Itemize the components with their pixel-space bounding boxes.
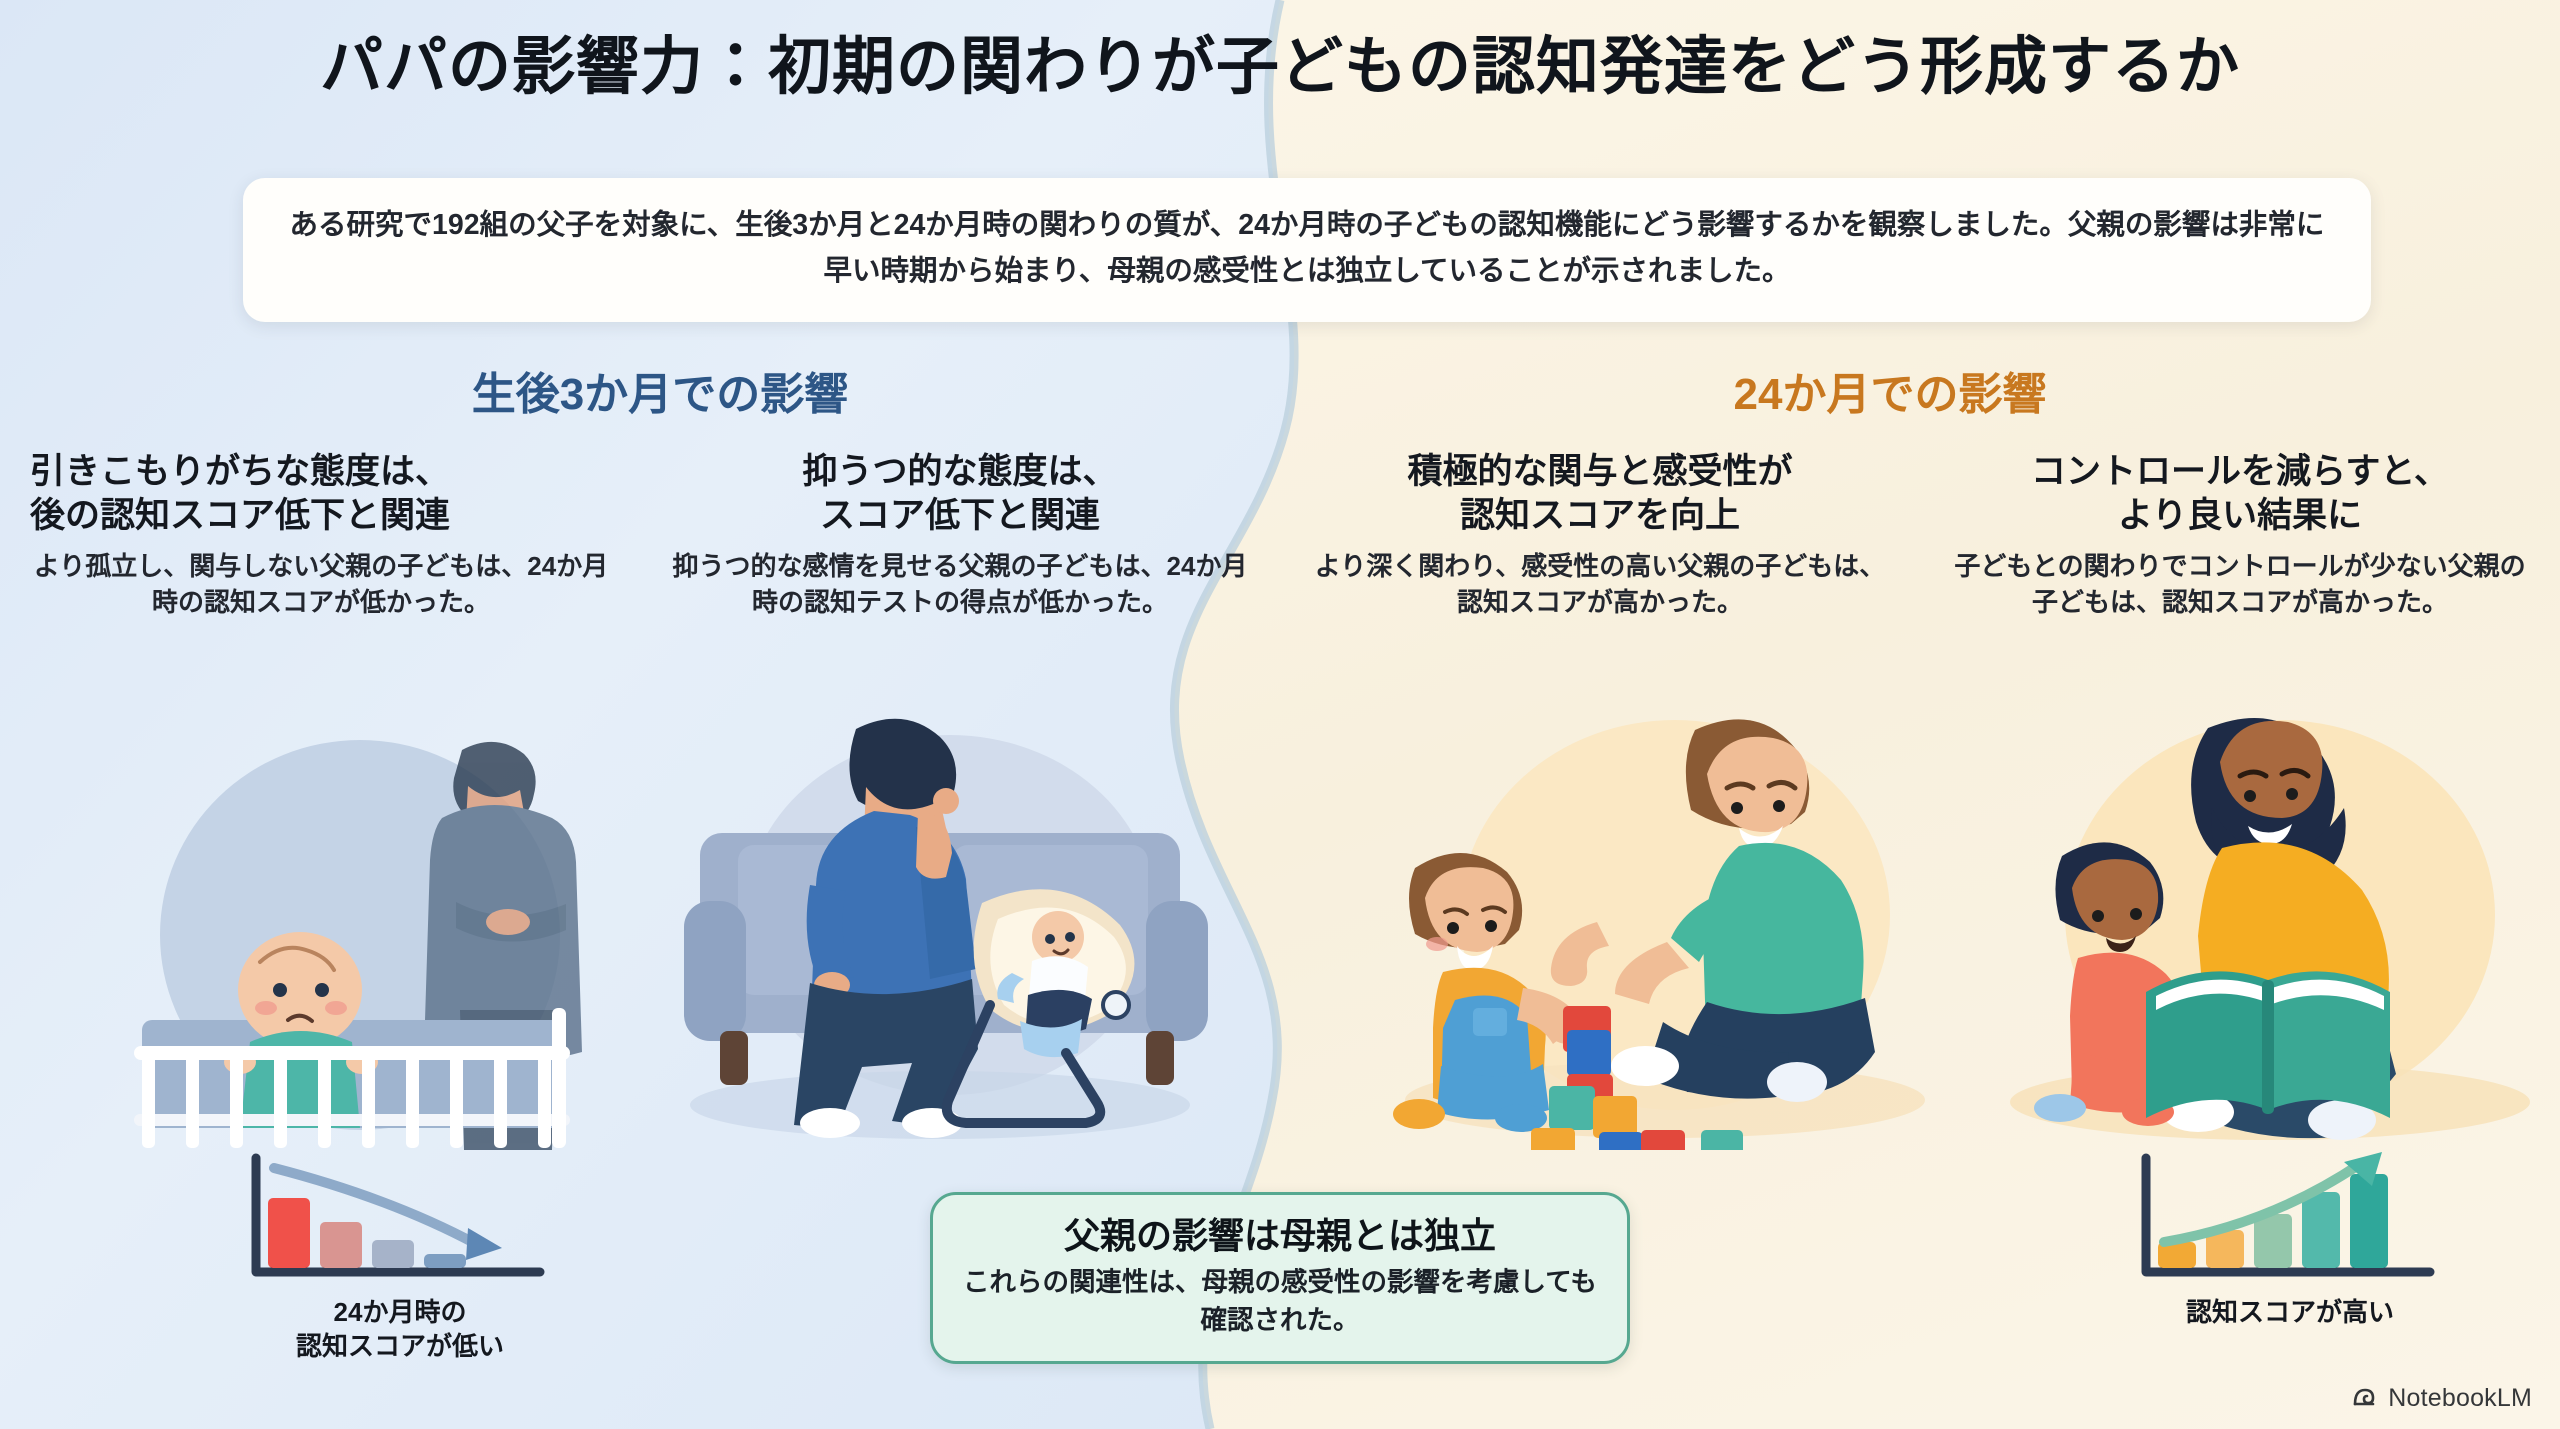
callout-body: これらの関連性は、母親の感受性の影響を考慮しても確認された。 — [963, 1264, 1597, 1339]
infographic-canvas: パパの影響力：初期の関わりが子どもの認知発達をどう形成するか ある研究で192組… — [0, 0, 2560, 1429]
card-less-control: コントロールを減らすと、 より良い結果に 子どもとの関わりでコントロールが少ない… — [1920, 450, 2560, 621]
mini-chart-declining-scores: 24か月時の 認知スコアが低い — [190, 1150, 610, 1364]
illustration-sad-father-on-sofa-with-baby-bouncer — [660, 705, 1220, 1145]
illustration-baby-in-crib-with-distant-father — [90, 690, 610, 1150]
card-body: より孤立し、関与しない父親の子どもは、24か月時の認知スコアが低かった。 — [28, 548, 612, 622]
mini-chart-caption: 24か月時の 認知スコアが低い — [190, 1296, 610, 1364]
callout-independent-effect: 父親の影響は母親とは独立 これらの関連性は、母親の感受性の影響を考慮しても確認さ… — [930, 1192, 1630, 1364]
notebooklm-label: NotebookLM — [2388, 1384, 2532, 1413]
mini-chart-rising-scores: 認知スコアが高い — [2090, 1150, 2490, 1330]
card-columns: 引きこもりがちな態度は、 後の認知スコア低下と関連 より孤立し、関与しない父親の… — [0, 450, 2560, 621]
card-depressed: 抑うつ的な態度は、 スコア低下と関連 抑うつ的な感情を見せる父親の子どもは、24… — [640, 450, 1280, 621]
notebooklm-spiral-icon — [2351, 1382, 2379, 1415]
illustration-father-and-toddler-playing-blocks — [1345, 700, 1955, 1150]
card-heading: 抑うつ的な態度は、 スコア低下と関連 — [668, 450, 1252, 538]
card-body: 抑うつ的な感情を見せる父親の子どもは、24か月時の認知テストの得点が低かった。 — [668, 548, 1252, 622]
card-engaged: 積極的な関与と感受性が 認知スコアを向上 より深く関わり、感受性の高い父親の子ど… — [1280, 450, 1920, 621]
notebooklm-watermark: NotebookLM — [2351, 1382, 2532, 1415]
intro-card: ある研究で192組の父子を対象に、生後3か月と24か月時の関わりの質が、24か月… — [243, 178, 2371, 322]
card-withdrawn: 引きこもりがちな態度は、 後の認知スコア低下と関連 より孤立し、関与しない父親の… — [0, 450, 640, 621]
card-body: より深く関わり、感受性の高い父親の子どもは、認知スコアが高かった。 — [1308, 548, 1892, 622]
mini-chart-caption: 認知スコアが高い — [2090, 1296, 2490, 1330]
section-header-twentyfour-months: 24か月での影響 — [1330, 358, 2450, 422]
card-heading: コントロールを減らすと、 より良い結果に — [1948, 450, 2532, 538]
intro-text: ある研究で192組の父子を対象に、生後3か月と24か月時の関わりの質が、24か月… — [289, 202, 2325, 294]
card-heading: 積極的な関与と感受性が 認知スコアを向上 — [1308, 450, 1892, 538]
card-body: 子どもとの関わりでコントロールが少ない父親の子どもは、認知スコアが高かった。 — [1948, 548, 2532, 622]
card-heading: 引きこもりがちな態度は、 後の認知スコア低下と関連 — [28, 450, 612, 538]
page-title: パパの影響力：初期の関わりが子どもの認知発達をどう形成するか — [0, 30, 2560, 104]
section-header-three-months: 生後3か月での影響 — [100, 358, 1220, 422]
callout-heading: 父親の影響は母親とは独立 — [963, 1213, 1597, 1258]
illustration-father-reading-book-with-child — [1960, 700, 2560, 1150]
